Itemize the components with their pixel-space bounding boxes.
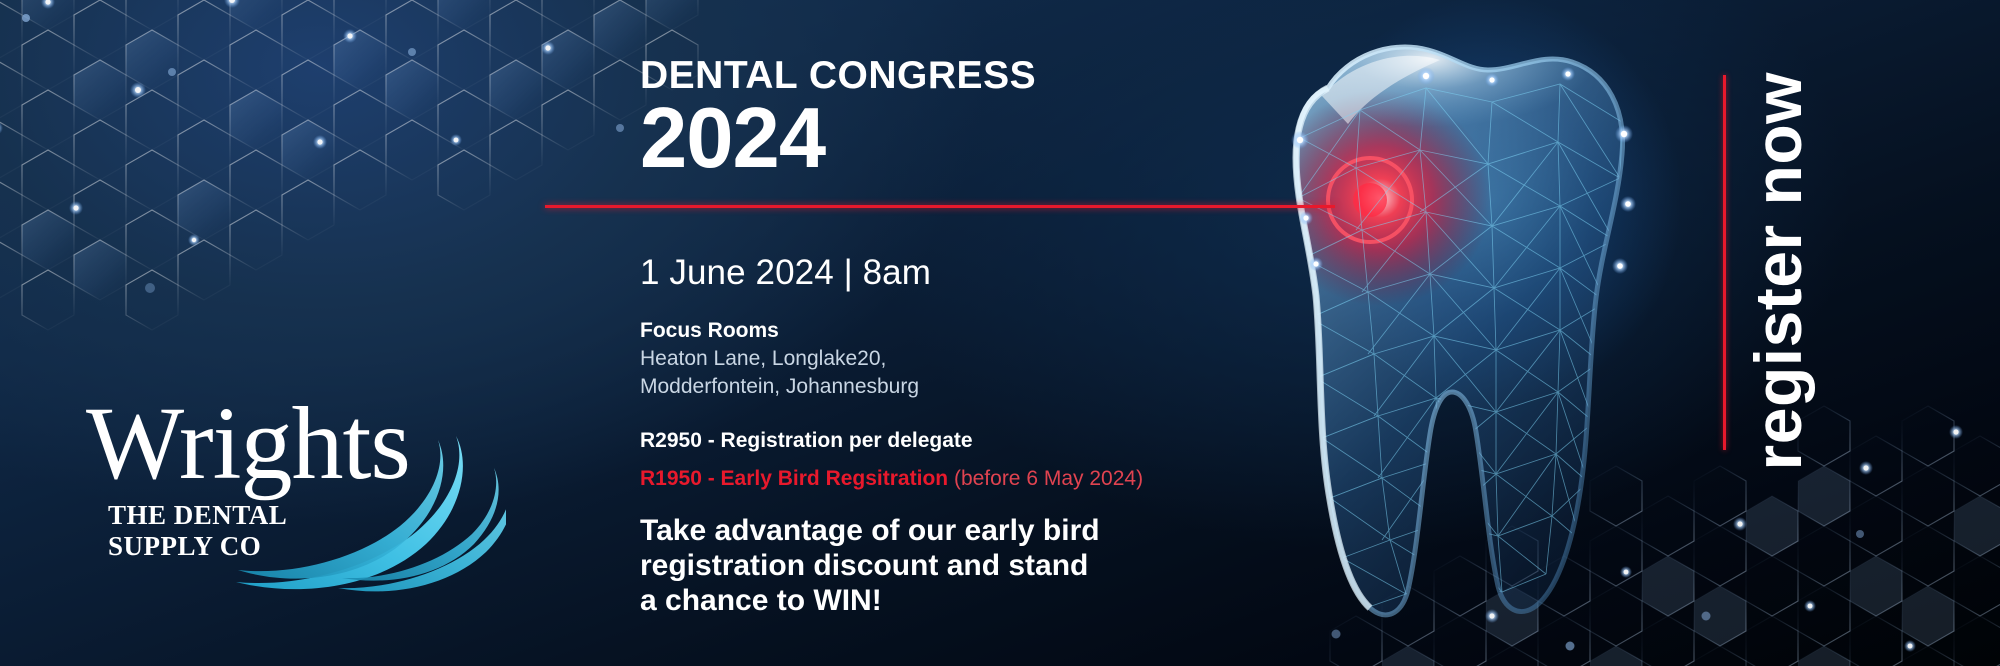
venue-block: Focus Rooms Heaton Lane, Longlake20, Mod… — [640, 317, 1240, 401]
venue-address-line-1: Heaton Lane, Longlake20, — [640, 345, 1240, 373]
logo-tagline: THE DENTAL SUPPLY CO — [108, 500, 287, 562]
price-early-bird: R1950 - Early Bird Regsitration (before … — [640, 467, 1240, 491]
price-early-bird-label: R1950 - Early Bird Regsitration — [640, 467, 948, 490]
venue-address-line-2: Modderfontein, Johannesburg — [640, 373, 1240, 401]
register-now-red-line — [1723, 75, 1726, 450]
register-now-label: register now — [1745, 72, 1811, 470]
price-standard: R2950 - Registration per delegate — [640, 429, 1240, 453]
dental-congress-banner: DENTAL CONGRESS 2024 1 June 2024 | 8am F… — [0, 0, 2000, 666]
promo-pitch: Take advantage of our early bird registr… — [640, 513, 1240, 618]
event-datetime: 1 June 2024 | 8am — [640, 253, 1240, 293]
page-title-year: 2024 — [640, 99, 1240, 180]
logo-wordmark: Wrights — [86, 392, 410, 496]
wrights-logo: Wrights THE DENTAL SUPPLY CO — [86, 392, 506, 592]
logo-tagline-line-2: SUPPLY CO — [108, 531, 287, 562]
promo-pitch-line-1: Take advantage of our early bird — [640, 513, 1240, 548]
tooth-illustration — [1230, 18, 1700, 658]
promo-pitch-line-3: a chance to WIN! — [640, 583, 1240, 618]
event-details: DENTAL CONGRESS 2024 1 June 2024 | 8am F… — [640, 56, 1240, 618]
logo-tagline-line-1: THE DENTAL — [108, 500, 287, 531]
hex-pattern-top-left-icon — [0, 0, 720, 370]
price-early-bird-note: (before 6 May 2024) — [954, 467, 1143, 490]
register-now-cta[interactable]: register now — [1745, 72, 1811, 592]
venue-name: Focus Rooms — [640, 317, 1240, 345]
promo-pitch-line-2: registration discount and stand — [640, 548, 1240, 583]
